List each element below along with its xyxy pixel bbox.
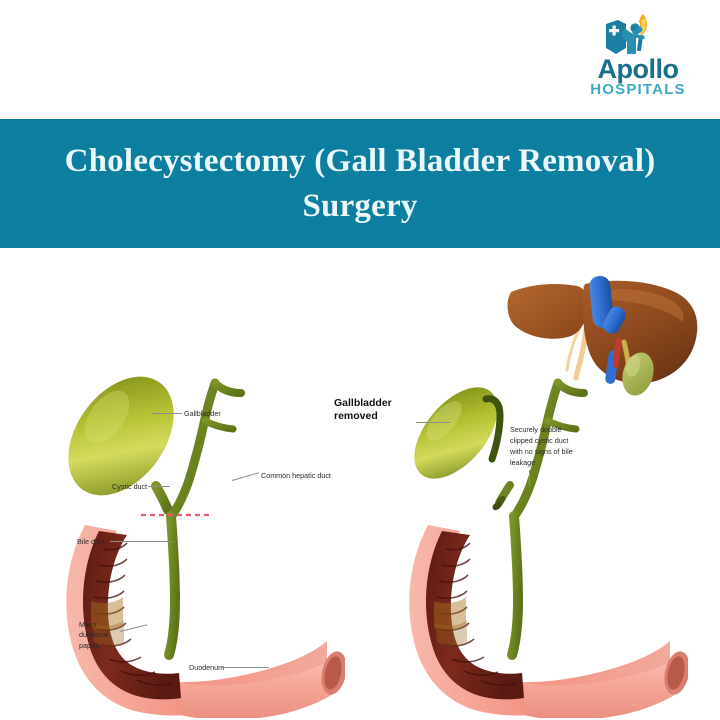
label-clip-note: Securely double clipped cystic duct with…	[510, 424, 582, 469]
apollo-torch-shield-icon	[596, 12, 666, 58]
illustration-area: Gallbladder Cystic duct Common hepatic d…	[0, 248, 720, 720]
label-common-hepatic-duct: Common hepatic duct	[261, 471, 331, 481]
gallbladder-shape	[55, 373, 195, 515]
common-bile-duct-shape	[169, 516, 175, 655]
header: Apollo HOSPITALS	[0, 0, 720, 119]
common-bile-duct-shape-right	[512, 516, 518, 655]
title-banner: Cholecystectomy (Gall Bladder Removal) S…	[0, 119, 720, 248]
leader-gallbladder-removed	[416, 422, 450, 423]
cystic-duct-shape	[156, 486, 168, 510]
label-gallbladder-removed: Gallbladder removed	[334, 397, 414, 423]
page-title: Cholecystectomy (Gall Bladder Removal) S…	[50, 139, 670, 229]
label-duodenum: Duodenum	[189, 663, 224, 673]
common-hepatic-duct-shape	[173, 383, 215, 514]
label-major-duodenal-papilla: Major duodenal papilla	[79, 620, 119, 651]
leader-cystic-duct	[148, 486, 170, 487]
removed-gallbladder-shape	[398, 373, 513, 494]
leader-bile-duct	[110, 541, 173, 542]
leader-gallbladder	[152, 413, 182, 414]
apollo-hospitals-logo: Apollo HOSPITALS	[574, 12, 702, 100]
leader-duodenum	[222, 667, 269, 668]
label-bile-duct: Bile duct	[77, 537, 105, 547]
brand-name: Apollo	[574, 56, 702, 83]
brand-subtitle: HOSPITALS	[574, 82, 702, 97]
label-cystic-duct: Cystic duct	[112, 482, 147, 492]
duodenum-shape-right	[409, 525, 688, 718]
label-gallbladder: Gallbladder	[184, 409, 221, 419]
leader-clip-note	[529, 470, 530, 486]
infographic-page: Apollo HOSPITALS Cholecystectomy (Gall B…	[0, 0, 720, 720]
